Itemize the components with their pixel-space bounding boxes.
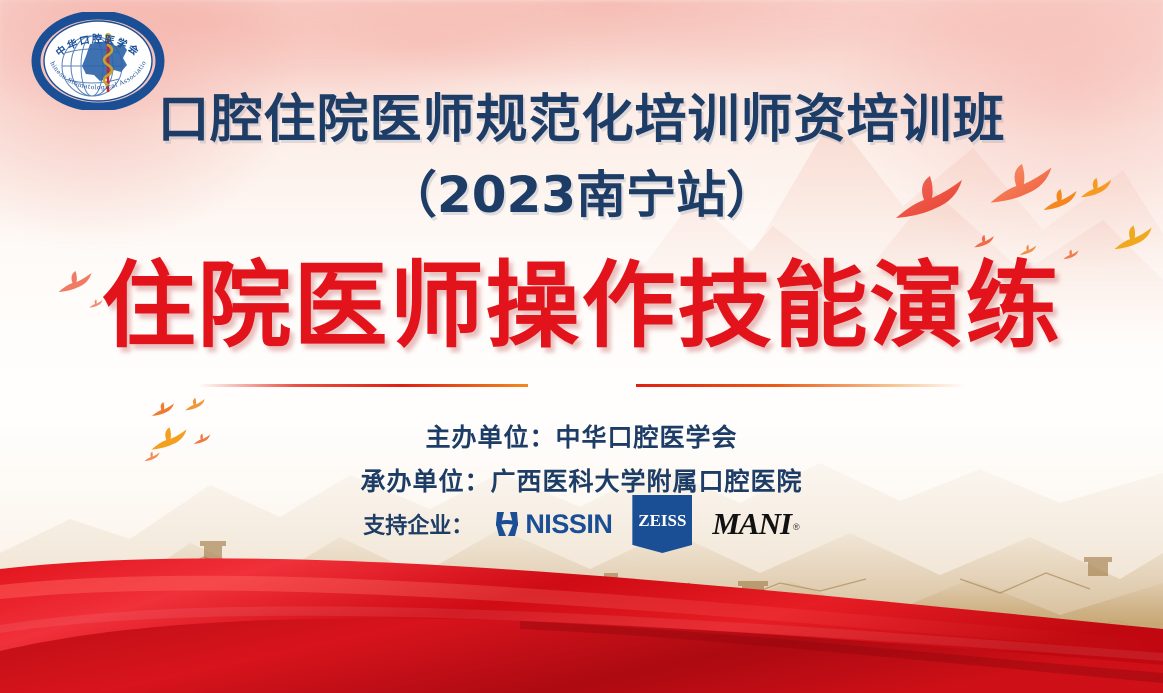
sponsor-logo-zeiss: ZEISS	[632, 495, 692, 553]
headline-text: 住院医师操作技能演练	[0, 258, 1163, 357]
sponsor-logo-mani: MANI ®	[712, 506, 799, 542]
zeiss-wordmark: ZEISS	[638, 511, 686, 531]
nissin-mark-icon	[493, 509, 521, 539]
mani-registered-mark: ®	[793, 522, 800, 532]
sponsor-row: 支持企业： NISSIN ZEISS MANI ®	[0, 500, 1163, 548]
decorative-divider	[0, 378, 1163, 392]
organizer-co-host: 承办单位：广西医科大学附属口腔医院	[0, 462, 1163, 498]
sponsor-logo-nissin: NISSIN	[493, 509, 612, 540]
divider-bar-left	[198, 384, 528, 387]
divider-bar-right	[636, 384, 966, 387]
banner-content: 口腔住院医师规范化培训师资培训班 （2023南宁站） 住院医师操作技能演练 主办…	[0, 0, 1163, 693]
page-title-line2: （2023南宁站）	[0, 168, 1163, 223]
conference-banner: 中华口腔医学会 Chinese Stomatological Associati…	[0, 0, 1163, 693]
mani-wordmark: MANI	[712, 506, 791, 542]
nissin-wordmark: NISSIN	[525, 509, 612, 540]
sponsor-label: 支持企业：	[363, 508, 473, 540]
page-title-line1: 口腔住院医师规范化培训师资培训班	[0, 92, 1163, 148]
organizer-host: 主办单位：中华口腔医学会	[0, 418, 1163, 454]
